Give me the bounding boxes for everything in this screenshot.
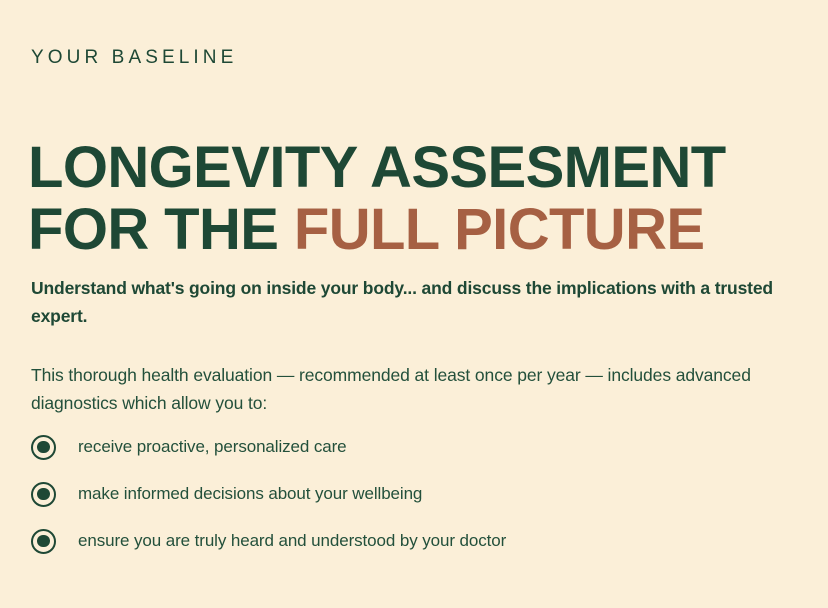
headline-line-2: FOR THE FULL PICTURE xyxy=(28,199,726,262)
slide-root: YOUR BASELINE LONGEVITY ASSESMENT FOR TH… xyxy=(0,0,828,608)
list-item: receive proactive, personalized care xyxy=(31,434,791,460)
benefits-list: receive proactive, personalized care mak… xyxy=(31,434,791,554)
subtitle-text: Understand what's going on inside your b… xyxy=(31,274,811,331)
body-paragraph: This thorough health evaluation — recomm… xyxy=(31,361,791,418)
radio-filled-icon xyxy=(31,529,56,554)
headline-line-1: LONGEVITY ASSESMENT xyxy=(28,137,726,200)
list-item: ensure you are truly heard and understoo… xyxy=(31,528,791,554)
list-item-label: receive proactive, personalized care xyxy=(78,436,347,458)
list-item-label: make informed decisions about your wellb… xyxy=(78,483,422,505)
list-item-label: ensure you are truly heard and understoo… xyxy=(78,530,506,552)
headline-line-2-accent: FULL PICTURE xyxy=(294,197,705,262)
list-item: make informed decisions about your wellb… xyxy=(31,481,791,507)
page-title: LONGEVITY ASSESMENT FOR THE FULL PICTURE xyxy=(28,137,726,262)
radio-filled-icon xyxy=(31,482,56,507)
eyebrow-label: YOUR BASELINE xyxy=(31,47,237,70)
headline-line-2-primary: FOR THE xyxy=(28,197,294,262)
radio-filled-icon xyxy=(31,435,56,460)
